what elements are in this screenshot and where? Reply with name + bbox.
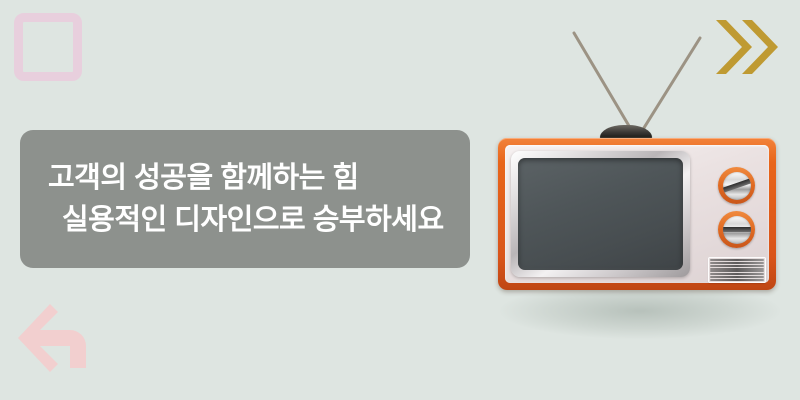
tuner-knob-upper[interactable] xyxy=(718,167,755,204)
tuner-knob-lower[interactable] xyxy=(718,211,755,248)
tv-control-panel xyxy=(690,145,769,283)
tv-cabinet xyxy=(498,138,776,290)
headline-banner: 고객의 성공을 함께하는 힘 실용적인 디자인으로 승부하세요 xyxy=(20,130,470,268)
tuner-knob-lower-face xyxy=(723,216,751,244)
tv-screen-bezel xyxy=(511,151,690,277)
rounded-square-outline-icon xyxy=(14,13,82,81)
headline-line-2: 실용적인 디자인으로 승부하세요 xyxy=(48,199,446,241)
tv-drop-shadow xyxy=(500,283,780,339)
return-arrow-left-icon xyxy=(14,300,102,378)
speaker-grille xyxy=(708,257,766,283)
tv-screen xyxy=(518,158,683,270)
retro-television-illustration xyxy=(492,28,782,328)
tuner-knob-upper-face xyxy=(723,172,751,200)
headline-line-1: 고객의 성공을 함께하는 힘 xyxy=(48,157,446,199)
tv-screen-area xyxy=(505,145,690,283)
banner-canvas: 고객의 성공을 함께하는 힘 실용적인 디자인으로 승부하세요 xyxy=(0,0,800,400)
